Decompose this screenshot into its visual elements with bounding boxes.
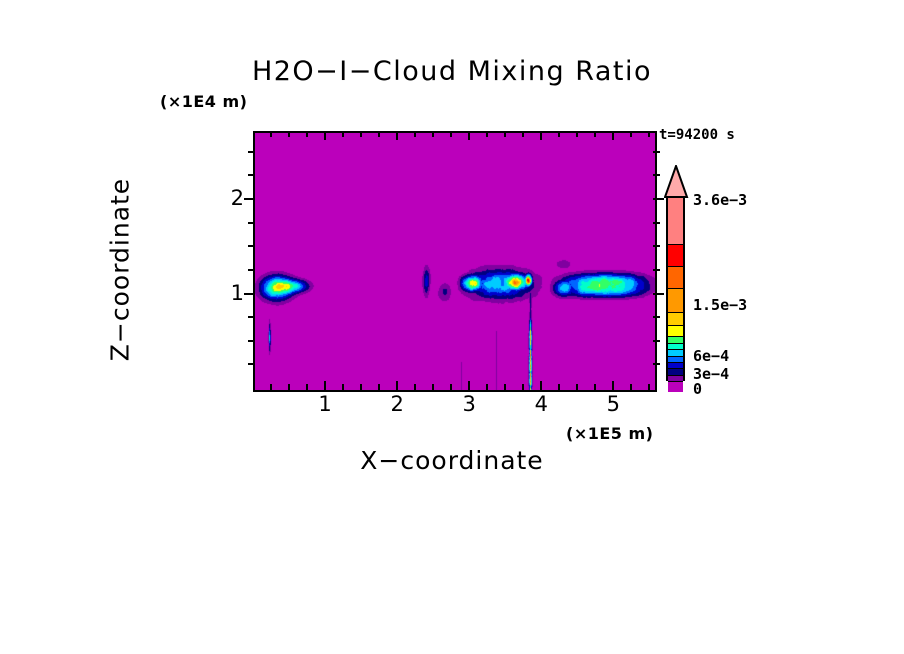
x-major-tick <box>540 381 542 390</box>
x-minor-tick-top <box>306 131 308 137</box>
y-minor-tick <box>248 174 255 176</box>
colorbar-band <box>668 244 683 266</box>
colorbar-tick-label: 0 <box>693 380 702 398</box>
colorbar-band <box>668 198 683 244</box>
x-minor-tick-top <box>630 131 632 137</box>
x-tick-label: 5 <box>598 392 628 416</box>
y-minor-tick-right <box>653 174 660 176</box>
y-minor-tick <box>248 151 255 153</box>
y-minor-tick-right <box>653 363 660 365</box>
y-minor-tick-right <box>653 340 660 342</box>
y-minor-tick <box>248 245 255 247</box>
y-minor-tick-right <box>653 269 660 271</box>
x-minor-tick <box>576 384 578 390</box>
colorbar-arrow-icon <box>664 165 689 198</box>
y-major-tick <box>244 293 255 295</box>
x-major-tick <box>468 381 470 390</box>
x-minor-tick <box>306 384 308 390</box>
colorbar: 3.6e−31.5e−36e−43e−40 <box>663 165 783 390</box>
colorbar-tick-label: 1.5e−3 <box>693 296 747 314</box>
x-minor-tick-top <box>450 131 452 137</box>
x-axis-unit-label: (×1E5 m) <box>566 424 653 443</box>
x-minor-tick <box>504 384 506 390</box>
x-minor-tick <box>522 384 524 390</box>
y-minor-tick-right <box>653 151 660 153</box>
x-minor-tick-top <box>342 131 344 137</box>
y-minor-tick <box>248 269 255 271</box>
colorbar-band <box>668 312 683 324</box>
x-major-tick-top <box>612 131 614 140</box>
x-minor-tick-top <box>594 131 596 137</box>
x-tick-label: 1 <box>310 392 340 416</box>
x-minor-tick-top <box>486 131 488 137</box>
x-minor-tick-top <box>288 131 290 137</box>
x-minor-tick-top <box>360 131 362 137</box>
y-tick-label: 2 <box>222 186 244 210</box>
x-minor-tick <box>648 384 650 390</box>
x-tick-label: 4 <box>526 392 556 416</box>
x-minor-tick-top <box>558 131 560 137</box>
x-major-tick <box>396 381 398 390</box>
colorbar-band <box>668 336 683 343</box>
y-tick-label: 1 <box>222 281 244 305</box>
y-minor-tick <box>248 316 255 318</box>
x-tick-label: 3 <box>454 392 484 416</box>
y-minor-tick <box>248 363 255 365</box>
x-minor-tick <box>414 384 416 390</box>
x-minor-tick-top <box>576 131 578 137</box>
x-axis-title: X−coordinate <box>0 446 904 475</box>
y-minor-tick <box>248 222 255 224</box>
colorbar-tick-label: 3.6e−3 <box>693 191 747 209</box>
y-minor-tick-right <box>653 316 660 318</box>
y-minor-tick-right <box>653 222 660 224</box>
x-tick-label: 2 <box>382 392 412 416</box>
colorbar-band <box>668 325 683 336</box>
colorbar-band <box>668 266 683 288</box>
x-minor-tick-top <box>504 131 506 137</box>
x-minor-tick-top <box>432 131 434 137</box>
x-minor-tick <box>342 384 344 390</box>
x-minor-tick <box>432 384 434 390</box>
y-major-tick <box>244 198 255 200</box>
x-minor-tick <box>558 384 560 390</box>
x-minor-tick-top <box>378 131 380 137</box>
x-minor-tick <box>288 384 290 390</box>
colorbar-bands <box>666 196 685 381</box>
x-minor-tick-top <box>648 131 650 137</box>
x-minor-tick <box>486 384 488 390</box>
x-minor-tick-top <box>414 131 416 137</box>
x-minor-tick <box>450 384 452 390</box>
x-minor-tick-top <box>522 131 524 137</box>
colorbar-band <box>668 288 683 313</box>
y-minor-tick <box>248 340 255 342</box>
x-major-tick <box>324 381 326 390</box>
x-minor-tick <box>378 384 380 390</box>
page-title: H2O−I−Cloud Mixing Ratio <box>0 56 904 87</box>
y-axis-title: Z−coordinate <box>106 140 135 400</box>
x-minor-tick <box>630 384 632 390</box>
x-minor-tick <box>594 384 596 390</box>
time-annotation: t=94200 s <box>659 127 735 143</box>
x-minor-tick-top <box>270 131 272 137</box>
contour-plot-area <box>253 131 657 392</box>
colorbar-band <box>668 381 683 391</box>
x-major-tick-top <box>324 131 326 140</box>
colorbar-band <box>668 368 683 375</box>
colorbar-tick-label: 6e−4 <box>693 347 729 365</box>
y-axis-unit-label: (×1E4 m) <box>160 92 247 111</box>
x-major-tick-top <box>468 131 470 140</box>
x-minor-tick <box>270 384 272 390</box>
contour-field-canvas <box>255 133 655 390</box>
x-major-tick-top <box>396 131 398 140</box>
x-minor-tick <box>360 384 362 390</box>
x-major-tick <box>612 381 614 390</box>
x-major-tick-top <box>540 131 542 140</box>
y-minor-tick-right <box>653 245 660 247</box>
